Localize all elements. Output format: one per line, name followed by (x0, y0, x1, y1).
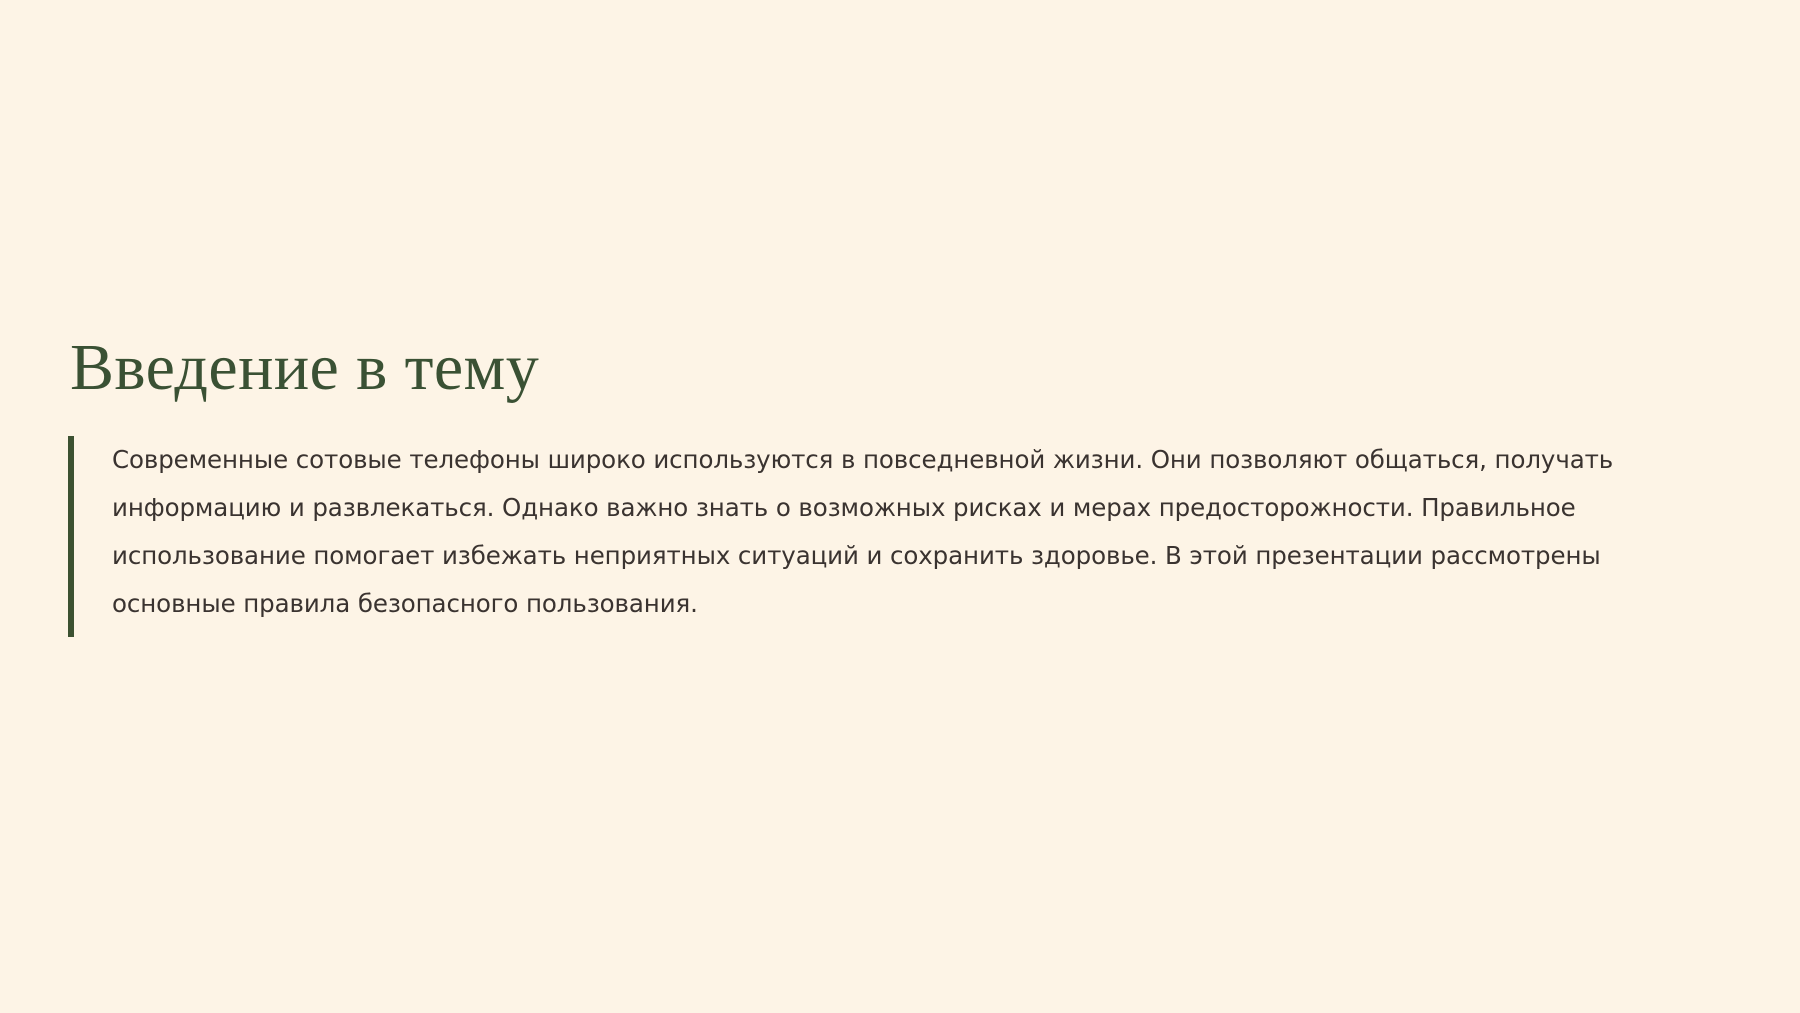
slide-content: Введение в тему Современные сотовые теле… (68, 330, 1748, 628)
accent-bar (68, 436, 74, 637)
page-title: Введение в тему (68, 330, 1748, 406)
presentation-slide: Введение в тему Современные сотовые теле… (0, 0, 1800, 1013)
body-block: Современные сотовые телефоны широко испо… (68, 436, 1748, 628)
body-paragraph: Современные сотовые телефоны широко испо… (112, 436, 1717, 628)
